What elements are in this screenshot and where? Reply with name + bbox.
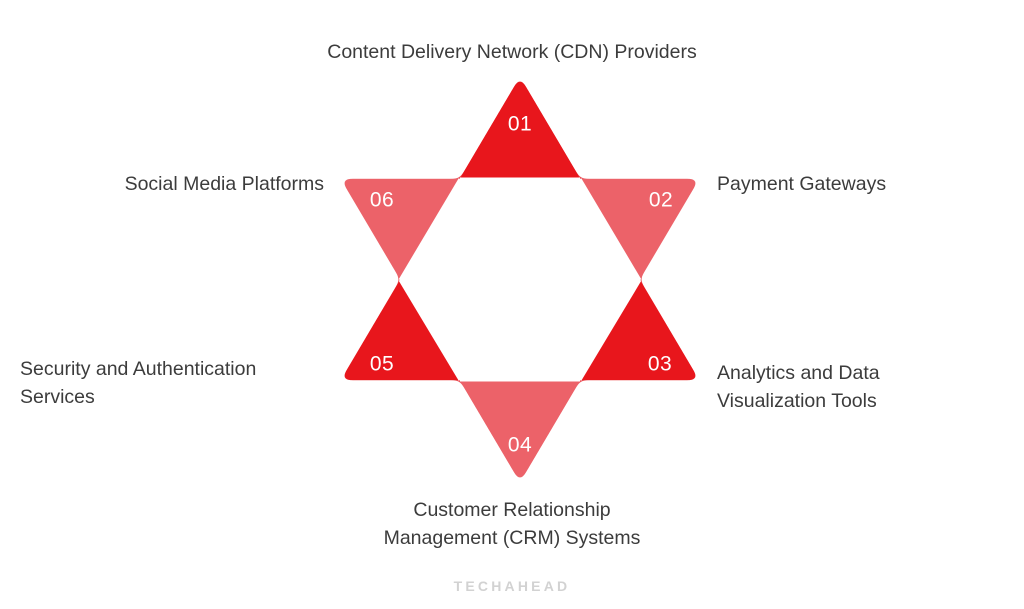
segment-label-03: Analytics and Data Visualization Tools <box>717 359 1007 415</box>
segment-label-05: Security and Authentication Services <box>20 355 324 411</box>
segment-number-03: 03 <box>648 353 672 376</box>
segment-label-01: Content Delivery Network (CDN) Providers <box>0 38 1024 66</box>
segment-label-06: Social Media Platforms <box>20 170 324 198</box>
segment-number-01: 01 <box>508 113 532 136</box>
segment-number-05: 05 <box>370 353 394 376</box>
segment-number-04: 04 <box>508 434 532 457</box>
segment-number-06: 06 <box>370 189 394 212</box>
segment-label-04: Customer Relationship Management (CRM) S… <box>262 496 762 552</box>
segment-number-02: 02 <box>649 189 673 212</box>
segment-label-02: Payment Gateways <box>717 170 1007 198</box>
diagram-canvas: 01 02 03 04 05 06 Content Delivery Netwo… <box>0 0 1024 609</box>
brand-wordmark: TECHAHEAD <box>0 578 1024 594</box>
